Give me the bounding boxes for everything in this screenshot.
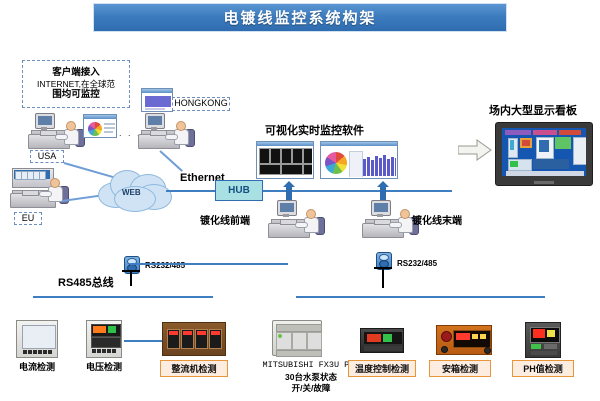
window-titlebar bbox=[142, 89, 172, 93]
pie-chart bbox=[325, 152, 347, 174]
monitor-stand bbox=[377, 214, 383, 217]
device-rectifier-label: 整流机检测 bbox=[160, 360, 228, 377]
page-title: 电镀线监控系统构架 bbox=[93, 3, 507, 32]
person-arm bbox=[39, 191, 52, 197]
hongkong-label: HONGKONG bbox=[172, 97, 230, 111]
board-title: 场内大型显示看板 bbox=[489, 105, 577, 119]
link-to-rectifier bbox=[124, 340, 162, 342]
display-board bbox=[495, 122, 593, 186]
link-front-to-converter bbox=[130, 263, 288, 265]
device-ph-label: PH值检测 bbox=[512, 360, 574, 377]
usa-label-text: USA bbox=[38, 151, 57, 162]
monitor-stand bbox=[283, 214, 289, 217]
workstation-usa bbox=[28, 113, 86, 149]
note-line-1: 客户端接入 bbox=[52, 67, 100, 79]
person-head bbox=[66, 121, 76, 131]
person-arm bbox=[165, 134, 178, 140]
converter-left-foot bbox=[122, 270, 140, 272]
line-end-label: 镀化线末端 bbox=[412, 216, 462, 229]
software-title: 可视化实时监控软件 bbox=[265, 125, 364, 139]
page-title-text: 电镀线监控系统构架 bbox=[223, 7, 376, 28]
device-temperature-label-text: 温度控制检测 bbox=[355, 362, 409, 375]
cloud-label: WEB bbox=[122, 188, 141, 197]
client-access-note: 客户端接入 INTERNET,在全球范 围均可监控 bbox=[22, 60, 130, 108]
line-front-label: 镀化线前端 bbox=[200, 216, 250, 229]
converter-right-stem bbox=[382, 268, 384, 288]
eu-label: EU bbox=[14, 212, 42, 225]
hub-node: HUB bbox=[215, 180, 263, 201]
window-titlebar bbox=[257, 142, 313, 146]
usa-chart-window bbox=[83, 114, 117, 138]
device-plc-sub1: 30台水泵状态 bbox=[266, 372, 356, 383]
usa-label: USA bbox=[30, 150, 64, 163]
bus-right bbox=[296, 296, 545, 298]
line-cloud-to-hub bbox=[166, 190, 216, 192]
window-content bbox=[322, 147, 396, 177]
hongkong-app-window bbox=[141, 88, 173, 112]
hongkong-label-text: HONGKONG bbox=[174, 98, 228, 109]
converter-left-stem bbox=[130, 272, 132, 286]
keyboard bbox=[22, 190, 39, 196]
device-ampere-label-text: 安箱检测 bbox=[442, 362, 478, 375]
device-rectifier-label-text: 整流机检测 bbox=[171, 362, 216, 375]
device-ph-label-text: PH值检测 bbox=[523, 362, 563, 375]
software-window-charts bbox=[320, 141, 398, 179]
window-content bbox=[258, 147, 312, 177]
person-head bbox=[176, 121, 186, 131]
bus-left bbox=[33, 296, 213, 298]
person-arm bbox=[295, 222, 308, 228]
pie-chart bbox=[88, 122, 102, 136]
web-cloud: WEB bbox=[96, 168, 172, 212]
device-temperature-label: 温度控制检测 bbox=[348, 360, 416, 377]
person-head bbox=[400, 209, 410, 219]
board-screen bbox=[502, 128, 586, 176]
window-content bbox=[143, 94, 171, 110]
note-line-2: INTERNET,在全球范 bbox=[37, 79, 115, 90]
converter-right-label: RS232/485 bbox=[397, 259, 437, 269]
person-head bbox=[306, 209, 316, 219]
meter-grid bbox=[258, 147, 312, 177]
board-arrow-icon bbox=[458, 138, 492, 162]
window-titlebar bbox=[84, 115, 116, 119]
device-ampere-label: 安箱检测 bbox=[429, 360, 491, 377]
bar-chart bbox=[363, 151, 396, 176]
rs485-bus-label: RS485总线 bbox=[58, 277, 114, 291]
device-voltage-label: 电压检测 bbox=[79, 362, 129, 373]
software-window-meters bbox=[256, 141, 314, 179]
workstation-line-front bbox=[268, 200, 326, 238]
person-head bbox=[50, 178, 60, 188]
note-line-3: 围均可监控 bbox=[52, 89, 100, 101]
diagram-canvas: 电镀线监控系统构架 客户端接入 INTERNET,在全球范 围均可监控 HONG… bbox=[0, 0, 600, 401]
workstation-eu bbox=[8, 168, 70, 208]
person-arm bbox=[389, 222, 402, 228]
board-stand bbox=[534, 181, 553, 184]
hub-label: HUB bbox=[228, 185, 250, 196]
window-titlebar bbox=[321, 142, 397, 146]
device-current-label: 电流检测 bbox=[12, 362, 62, 373]
person-arm bbox=[55, 134, 68, 140]
converter-right-foot bbox=[374, 267, 392, 269]
workstation-hongkong bbox=[138, 113, 196, 149]
window-content bbox=[85, 120, 115, 136]
eu-label-text: EU bbox=[22, 213, 35, 224]
device-plc-sub2: 开/关/故障 bbox=[266, 383, 356, 394]
